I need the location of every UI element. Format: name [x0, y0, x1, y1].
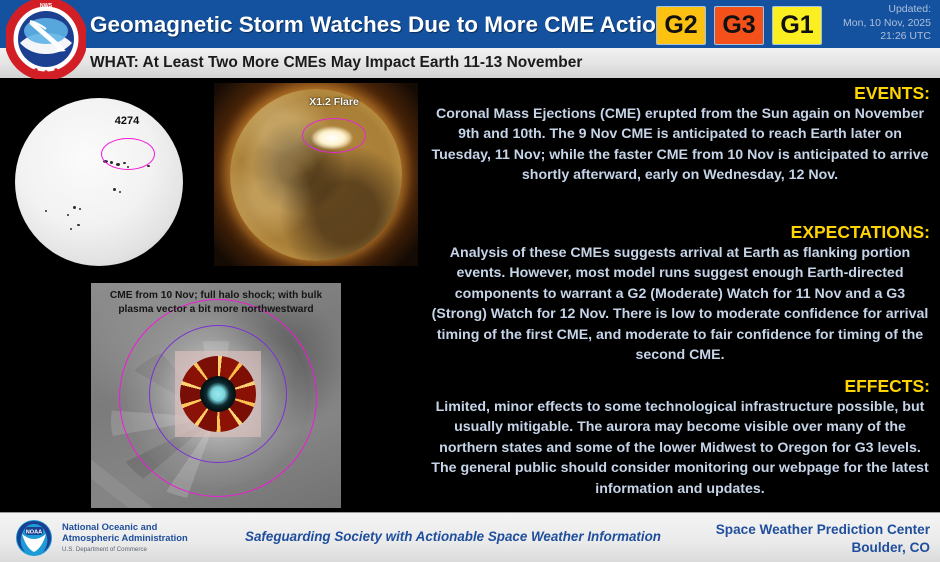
euv-sun-image: X1.2 Flare	[213, 82, 419, 267]
white-light-sun-image: 4274	[0, 82, 210, 282]
events-section: EVENTS: Coronal Mass Ejections (CME) eru…	[430, 82, 930, 186]
flare-label: X1.2 Flare	[298, 96, 370, 108]
what-summary-bar: WHAT: At Least Two More CMEs May Impact …	[0, 48, 940, 79]
sunspot	[119, 191, 121, 193]
content-area: 4274 X1.2 Flare CME from 10 Nov; full ha…	[0, 78, 940, 512]
sunspot	[113, 188, 116, 191]
noaa-agency-name: National Oceanic and Atmospheric Adminis…	[62, 521, 188, 543]
storm-badge-g2: G2	[656, 6, 706, 45]
noaa-logo-icon: NOAA	[14, 519, 54, 557]
sunspot	[67, 214, 69, 216]
swpc-attribution: Space Weather Prediction Center Boulder,…	[716, 521, 930, 556]
space-weather-infographic: Geomagnetic Storm Watches Due to More CM…	[0, 0, 940, 562]
sunspot	[77, 224, 80, 226]
discussion-text-column: EVENTS: Coronal Mass Ejections (CME) eru…	[430, 78, 930, 512]
events-heading: EVENTS:	[430, 82, 930, 104]
active-region-highlight-ellipse	[101, 138, 155, 170]
inner-annotation-circle	[149, 325, 287, 463]
euv-solar-disk	[230, 89, 402, 261]
noaa-agency-line2: Atmospheric Administration	[62, 532, 188, 543]
header-bar: Geomagnetic Storm Watches Due to More CM…	[0, 0, 940, 48]
sunspot	[79, 208, 81, 210]
flare-highlight-ellipse	[302, 118, 366, 153]
what-summary-text: WHAT: At Least Two More CMEs May Impact …	[90, 48, 582, 77]
sunspot	[147, 165, 150, 167]
updated-time: 21:26 UTC	[786, 30, 931, 44]
events-body: Coronal Mass Ejections (CME) erupted fro…	[430, 104, 930, 186]
updated-label: Updated:	[786, 3, 931, 17]
swpc-location: Boulder, CO	[716, 539, 930, 557]
updated-timestamp: Updated: Mon, 10 Nov, 2025 21:26 UTC	[786, 3, 931, 44]
page-title: Geomagnetic Storm Watches Due to More CM…	[90, 7, 655, 43]
sunspot	[70, 228, 72, 230]
active-region-label: 4274	[98, 115, 156, 127]
svg-text:NOAA: NOAA	[26, 529, 42, 535]
effects-body: Limited, minor effects to some technolog…	[430, 397, 930, 499]
storm-badge-g3: G3	[714, 6, 764, 45]
effects-section: EFFECTS: Limited, minor effects to some …	[430, 375, 930, 499]
noaa-department: U.S. Department of Commerce	[62, 546, 147, 553]
footer-tagline: Safeguarding Society with Actionable Spa…	[228, 529, 678, 544]
sunspot	[73, 206, 76, 209]
expectations-section: EXPECTATIONS: Analysis of these CMEs sug…	[430, 221, 930, 365]
svg-text:NWS: NWS	[40, 3, 53, 9]
national-weather-service-logo-icon: NWS	[6, 0, 86, 79]
footer-bar: NOAA National Oceanic and Atmospheric Ad…	[0, 512, 940, 562]
effects-heading: EFFECTS:	[430, 375, 930, 397]
updated-date: Mon, 10 Nov, 2025	[786, 17, 931, 31]
swpc-center-name: Space Weather Prediction Center	[716, 521, 930, 539]
expectations-heading: EXPECTATIONS:	[430, 221, 930, 243]
coronagraph-image: CME from 10 Nov; full halo shock; with b…	[91, 283, 341, 508]
coronagraph-caption: CME from 10 Nov; full halo shock; with b…	[97, 289, 335, 316]
expectations-body: Analysis of these CMEs suggests arrival …	[430, 243, 930, 365]
sunspot	[45, 210, 47, 212]
noaa-agency-line1: National Oceanic and	[62, 521, 188, 532]
